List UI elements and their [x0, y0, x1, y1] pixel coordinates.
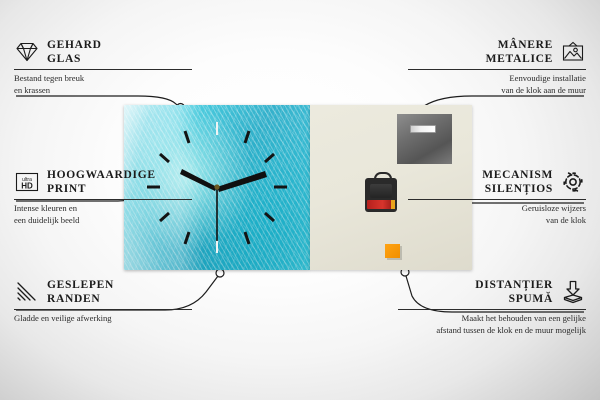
clock-center-pin: [214, 184, 219, 189]
feature-head: MECANISM SILENȚIOS: [408, 168, 586, 196]
feature-geslepen-randen: GESLEPEN RANDEN Gladde en veilige afwerk…: [14, 278, 192, 325]
clock-marker-5: [245, 232, 249, 244]
clock-mechanism: [365, 178, 397, 212]
feature-title-line1: DISTANȚIER: [475, 278, 553, 292]
picture-frame-icon: [560, 39, 586, 65]
feature-title-line2: GLAS: [47, 52, 102, 66]
feature-title: MECANISM SILENȚIOS: [482, 168, 553, 196]
feature-description: Geruisloze wijzers van de klok: [408, 203, 586, 226]
feature-divider: [408, 199, 586, 200]
feature-desc-line2: en krassen: [14, 85, 192, 97]
feature-desc-line1: Geruisloze wijzers: [408, 203, 586, 215]
clock-marker-7: [185, 232, 189, 244]
connector-dot-geslepen-randen: [216, 269, 224, 277]
feature-desc-line1: Bestand tegen breuk: [14, 73, 192, 85]
feature-divider: [14, 69, 192, 70]
beveled-edges-icon: [14, 279, 40, 305]
feature-title-line1: GESLEPEN: [47, 278, 114, 292]
feature-title-line2: SPUMĂ: [475, 292, 553, 306]
feature-title-line1: GEHARD: [47, 38, 102, 52]
feature-title-line2: RANDEN: [47, 292, 114, 306]
feature-title: GESLEPEN RANDEN: [47, 278, 114, 306]
ultra-hd-icon: ultra HD: [14, 169, 40, 195]
feature-head: DISTANȚIER SPUMĂ: [398, 278, 586, 306]
feature-desc-line2: van de klok aan de muur: [408, 85, 586, 97]
feature-description: Maakt het behouden van een gelijke afsta…: [398, 313, 586, 336]
feature-title: MÂNERE METALICE: [486, 38, 553, 66]
feature-title-line1: MÂNERE: [486, 38, 553, 52]
svg-text:HD: HD: [21, 182, 33, 191]
spacer-arrow-icon: [560, 279, 586, 305]
foam-spacer: [385, 244, 400, 258]
diamond-icon: [14, 39, 40, 65]
feature-title-line1: MECANISM: [482, 168, 553, 182]
feature-description: Bestand tegen breuk en krassen: [14, 73, 192, 96]
feature-title-line2: METALICE: [486, 52, 553, 66]
clock-hour-hand: [180, 169, 217, 191]
feature-desc-line1: Gladde en veilige afwerking: [14, 313, 192, 325]
clock-marker-11: [185, 131, 189, 143]
feature-title: DISTANȚIER SPUMĂ: [475, 278, 553, 306]
feature-title-line2: SILENȚIOS: [482, 182, 553, 196]
clock-marker-2: [265, 154, 274, 162]
feature-gehard-glas: GEHARD GLAS Bestand tegen breuk en krass…: [14, 38, 192, 96]
feature-head: MÂNERE METALICE: [408, 38, 586, 66]
clock-marker-4: [265, 213, 274, 221]
clock-marker-1: [245, 131, 249, 143]
product-feature-infographic: GEHARD GLAS Bestand tegen breuk en krass…: [0, 0, 600, 400]
clock-face: [124, 105, 310, 270]
clock-marker-10: [160, 154, 169, 162]
feature-divider: [398, 309, 586, 310]
feature-desc-line1: Eenvoudige installatie: [408, 73, 586, 85]
feature-head: GEHARD GLAS: [14, 38, 192, 66]
feature-divider: [408, 69, 586, 70]
clock-marker-8: [160, 213, 169, 221]
feature-manere-metalice: MÂNERE METALICE Eenvoudige installatie v…: [408, 38, 586, 96]
gear-icon: [560, 169, 586, 195]
hanger-slot: [410, 125, 436, 133]
feature-mecanism-silentios: MECANISM SILENȚIOS Geruisloze wijzers va…: [408, 168, 586, 226]
mechanism-hook: [374, 172, 392, 183]
feature-description: Gladde en veilige afwerking: [14, 313, 192, 325]
clock-minute-hand: [217, 171, 267, 192]
feature-desc-line2: van de klok: [408, 215, 586, 227]
feature-divider: [14, 309, 192, 310]
battery: [367, 200, 395, 209]
feature-head: GESLEPEN RANDEN: [14, 278, 192, 306]
feature-title: GEHARD GLAS: [47, 38, 102, 66]
mechanism-dial: [370, 184, 392, 198]
battery-terminal: [391, 200, 395, 209]
feature-desc-line2: afstand tussen de klok en de muur mogeli…: [398, 325, 586, 337]
feature-distantier-spuma: DISTANȚIER SPUMĂ Maakt het behouden van …: [398, 278, 586, 336]
feature-description: Eenvoudige installatie van de klok aan d…: [408, 73, 586, 96]
metal-hanger-bracket: [397, 114, 452, 164]
feature-desc-line1: Maakt het behouden van een gelijke: [398, 313, 586, 325]
